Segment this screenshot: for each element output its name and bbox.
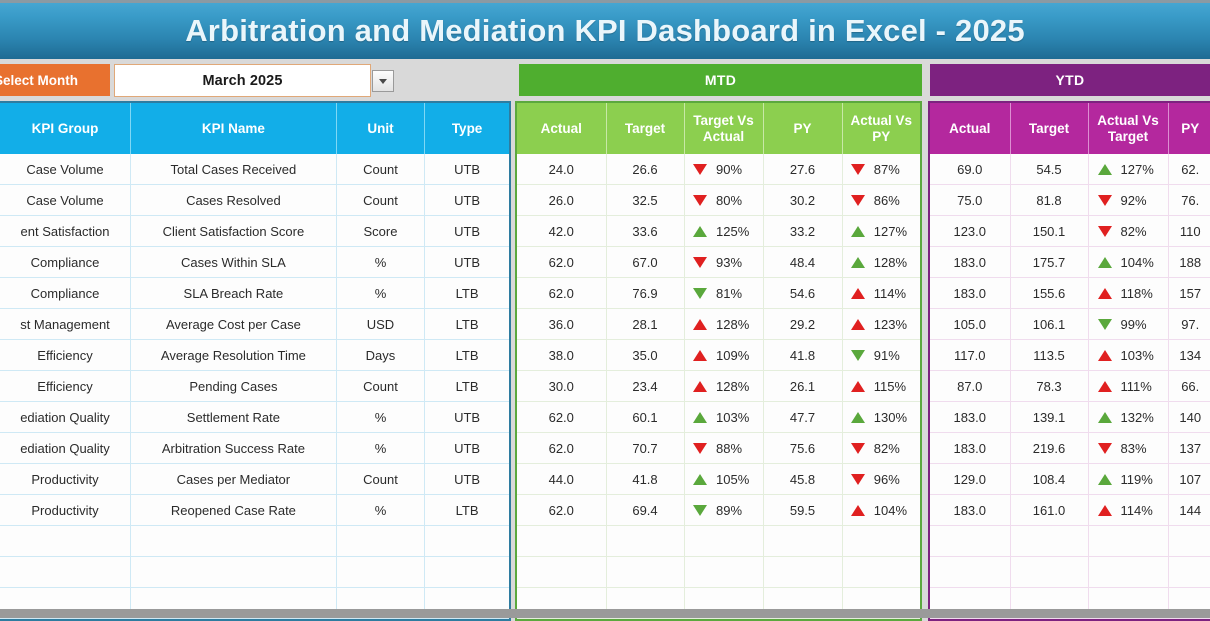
variance-percent: 83% (1121, 441, 1159, 456)
cell-mtd-target-vs-actual: 105% (684, 464, 763, 495)
cell-kpi-name: Reopened Case Rate (131, 495, 337, 526)
table-row: 30.023.4128%26.1115% (517, 371, 920, 402)
arrow-down-icon (1098, 195, 1112, 206)
cell-empty (930, 557, 1010, 588)
cell-ytd-py: 66. (1168, 371, 1210, 402)
cell-kpi-group: Case Volume (0, 154, 131, 185)
table-row: 129.0108.4119%107 (930, 464, 1210, 495)
cell-kpi-group: Compliance (0, 247, 131, 278)
cell-mtd-actual: 44.0 (517, 464, 606, 495)
cell-mtd-target-vs-actual: 89% (684, 495, 763, 526)
arrow-down-icon (851, 443, 865, 454)
cell-ytd-actual-vs-target: 103% (1088, 340, 1168, 371)
table-row: 105.0106.199%97. (930, 309, 1210, 340)
cell-ytd-py: 107 (1168, 464, 1210, 495)
cell-mtd-actual: 62.0 (517, 402, 606, 433)
cell-empty (684, 526, 763, 557)
cell-kpi-name: Cases Within SLA (131, 247, 337, 278)
cell-ytd-target: 81.8 (1010, 185, 1088, 216)
variance-percent: 127% (874, 224, 912, 239)
cell-mtd-actual: 62.0 (517, 278, 606, 309)
cell-mtd-actual: 42.0 (517, 216, 606, 247)
arrow-up-icon (1098, 505, 1112, 516)
arrow-down-icon (1098, 319, 1112, 330)
cell-ytd-actual: 183.0 (930, 278, 1010, 309)
kpi-table-mtd-group: ActualTargetTarget Vs ActualPYActual Vs … (515, 101, 922, 621)
column-header-actual[interactable]: Actual (930, 103, 1010, 154)
chevron-down-icon (379, 79, 387, 84)
cell-mtd-actual: 62.0 (517, 247, 606, 278)
window-bottom-bar (0, 609, 1210, 618)
cell-kpi-group: Productivity (0, 464, 131, 495)
cell-empty (1088, 526, 1168, 557)
cell-mtd-target: 67.0 (606, 247, 684, 278)
cell-unit: Days (336, 340, 424, 371)
variance-percent: 128% (716, 379, 754, 394)
kpi-table-ytd-group: ActualTargetActual Vs TargetPY 69.054.51… (928, 101, 1210, 621)
cell-type: UTB (425, 154, 509, 185)
cell-mtd-py: 75.6 (763, 433, 842, 464)
cell-mtd-target: 76.9 (606, 278, 684, 309)
arrow-down-icon (1098, 443, 1112, 454)
cell-mtd-actual-vs-py: 130% (842, 402, 920, 433)
dashboard-title-banner: Arbitration and Mediation KPI Dashboard … (0, 0, 1210, 59)
cell-type: UTB (425, 464, 509, 495)
cell-ytd-target: 175.7 (1010, 247, 1088, 278)
cell-ytd-actual: 183.0 (930, 433, 1010, 464)
cell-empty (606, 526, 684, 557)
table-row: 44.041.8105%45.896% (517, 464, 920, 495)
cell-mtd-py: 45.8 (763, 464, 842, 495)
arrow-up-icon (851, 226, 865, 237)
cell-mtd-py: 26.1 (763, 371, 842, 402)
arrow-up-icon (851, 257, 865, 268)
cell-ytd-py: 62. (1168, 154, 1210, 185)
variance-percent: 90% (716, 162, 754, 177)
cell-ytd-py: 134 (1168, 340, 1210, 371)
section-band-mtd: MTD (519, 64, 922, 96)
arrow-up-icon (851, 319, 865, 330)
cell-type: LTB (425, 309, 509, 340)
cell-ytd-target: 113.5 (1010, 340, 1088, 371)
table-row: 183.0155.6118%157 (930, 278, 1210, 309)
arrow-up-icon (693, 350, 707, 361)
cell-ytd-actual: 183.0 (930, 495, 1010, 526)
table-row: st ManagementAverage Cost per CaseUSDLTB (0, 309, 509, 340)
variance-percent: 93% (716, 255, 754, 270)
cell-mtd-py: 54.6 (763, 278, 842, 309)
column-header-unit[interactable]: Unit (336, 103, 424, 154)
arrow-down-icon (851, 164, 865, 175)
cell-empty (606, 557, 684, 588)
variance-percent: 87% (874, 162, 912, 177)
column-header-actual-vs-py[interactable]: Actual Vs PY (842, 103, 920, 154)
table-row: 183.0175.7104%188 (930, 247, 1210, 278)
table-row-empty (517, 526, 920, 557)
cell-ytd-actual-vs-target: 119% (1088, 464, 1168, 495)
cell-mtd-target: 60.1 (606, 402, 684, 433)
cell-mtd-actual: 62.0 (517, 495, 606, 526)
table-row: 62.060.1103%47.7130% (517, 402, 920, 433)
arrow-up-icon (851, 288, 865, 299)
table-row: ediation QualitySettlement Rate%UTB (0, 402, 509, 433)
cell-unit: % (336, 402, 424, 433)
cell-ytd-py: 137 (1168, 433, 1210, 464)
cell-mtd-actual-vs-py: 115% (842, 371, 920, 402)
cell-ytd-target: 54.5 (1010, 154, 1088, 185)
cell-unit: USD (336, 309, 424, 340)
cell-ytd-actual-vs-target: 92% (1088, 185, 1168, 216)
cell-ytd-actual-vs-target: 83% (1088, 433, 1168, 464)
cell-mtd-actual: 30.0 (517, 371, 606, 402)
cell-empty (0, 557, 131, 588)
cell-mtd-py: 59.5 (763, 495, 842, 526)
table-row-empty (517, 557, 920, 588)
arrow-up-icon (1098, 381, 1112, 392)
column-header-target[interactable]: Target (606, 103, 684, 154)
variance-percent: 132% (1121, 410, 1159, 425)
cell-empty (425, 526, 509, 557)
table-row-empty (930, 526, 1210, 557)
variance-percent: 104% (874, 503, 912, 518)
variance-percent: 91% (874, 348, 912, 363)
cell-kpi-name: Total Cases Received (131, 154, 337, 185)
cell-empty (1088, 557, 1168, 588)
cell-ytd-actual: 117.0 (930, 340, 1010, 371)
cell-ytd-py: 157 (1168, 278, 1210, 309)
arrow-up-icon (693, 226, 707, 237)
cell-kpi-name: Cases per Mediator (131, 464, 337, 495)
variance-percent: 105% (716, 472, 754, 487)
cell-mtd-py: 47.7 (763, 402, 842, 433)
table-row: 36.028.1128%29.2123% (517, 309, 920, 340)
cell-kpi-name: Average Resolution Time (131, 340, 337, 371)
arrow-up-icon (693, 412, 707, 423)
cell-ytd-actual: 69.0 (930, 154, 1010, 185)
cell-ytd-actual: 129.0 (930, 464, 1010, 495)
cell-empty (763, 557, 842, 588)
cell-type: UTB (425, 433, 509, 464)
cell-empty (336, 557, 424, 588)
table-row: 183.0161.0114%144 (930, 495, 1210, 526)
cell-type: UTB (425, 402, 509, 433)
arrow-up-icon (1098, 257, 1112, 268)
cell-ytd-target: 106.1 (1010, 309, 1088, 340)
arrow-down-icon (693, 164, 707, 175)
variance-percent: 80% (716, 193, 754, 208)
month-select-box[interactable]: March 2025 (114, 64, 371, 97)
table-row: Case VolumeTotal Cases ReceivedCountUTB (0, 154, 509, 185)
variance-percent: 127% (1121, 162, 1159, 177)
page-title: Arbitration and Mediation KPI Dashboard … (185, 13, 1025, 49)
cell-ytd-actual: 123.0 (930, 216, 1010, 247)
cell-mtd-target: 28.1 (606, 309, 684, 340)
cell-mtd-actual-vs-py: 87% (842, 154, 920, 185)
cell-mtd-py: 29.2 (763, 309, 842, 340)
cell-mtd-actual-vs-py: 114% (842, 278, 920, 309)
cell-ytd-py: 97. (1168, 309, 1210, 340)
cell-kpi-name: Average Cost per Case (131, 309, 337, 340)
table-row: 24.026.690%27.687% (517, 154, 920, 185)
table-row: ComplianceSLA Breach Rate%LTB (0, 278, 509, 309)
column-header-actual-vs-target[interactable]: Actual Vs Target (1088, 103, 1168, 154)
cell-mtd-actual-vs-py: 91% (842, 340, 920, 371)
variance-percent: 123% (874, 317, 912, 332)
arrow-up-icon (693, 381, 707, 392)
table-row: 26.032.580%30.286% (517, 185, 920, 216)
cell-ytd-target: 139.1 (1010, 402, 1088, 433)
variance-percent: 118% (1121, 286, 1159, 301)
table-row: ent SatisfactionClient Satisfaction Scor… (0, 216, 509, 247)
cell-empty (131, 526, 337, 557)
variance-percent: 103% (716, 410, 754, 425)
variance-percent: 82% (874, 441, 912, 456)
month-select-value: March 2025 (203, 73, 283, 89)
select-month-label: Select Month (0, 64, 110, 96)
cell-mtd-target-vs-actual: 90% (684, 154, 763, 185)
arrow-down-icon (693, 195, 707, 206)
cell-type: LTB (425, 495, 509, 526)
cell-mtd-actual: 24.0 (517, 154, 606, 185)
cell-kpi-group: ediation Quality (0, 433, 131, 464)
variance-percent: 88% (716, 441, 754, 456)
section-band-mtd-label: MTD (705, 72, 736, 88)
cell-mtd-target: 32.5 (606, 185, 684, 216)
arrow-up-icon (693, 319, 707, 330)
cell-ytd-actual: 183.0 (930, 247, 1010, 278)
column-header-kpi-group[interactable]: KPI Group (0, 103, 131, 154)
cell-mtd-target: 26.6 (606, 154, 684, 185)
cell-ytd-actual: 105.0 (930, 309, 1010, 340)
cell-mtd-py: 41.8 (763, 340, 842, 371)
cell-empty (1010, 557, 1088, 588)
cell-empty (336, 526, 424, 557)
column-header-type[interactable]: Type (425, 103, 509, 154)
cell-mtd-target: 70.7 (606, 433, 684, 464)
cell-mtd-actual-vs-py: 128% (842, 247, 920, 278)
cell-kpi-group: st Management (0, 309, 131, 340)
cell-ytd-actual-vs-target: 114% (1088, 495, 1168, 526)
cell-mtd-actual-vs-py: 96% (842, 464, 920, 495)
dashboard-root: Arbitration and Mediation KPI Dashboard … (0, 0, 1210, 618)
column-header-target[interactable]: Target (1010, 103, 1088, 154)
variance-percent: 96% (874, 472, 912, 487)
cell-mtd-py: 27.6 (763, 154, 842, 185)
variance-percent: 128% (874, 255, 912, 270)
cell-unit: % (336, 247, 424, 278)
cell-ytd-actual-vs-target: 118% (1088, 278, 1168, 309)
cell-kpi-group: Productivity (0, 495, 131, 526)
table-row: 183.0219.683%137 (930, 433, 1210, 464)
cell-ytd-target: 219.6 (1010, 433, 1088, 464)
cell-kpi-name: Cases Resolved (131, 185, 337, 216)
table-row: 62.076.981%54.6114% (517, 278, 920, 309)
table-row: ediation QualityArbitration Success Rate… (0, 433, 509, 464)
table-row-empty (0, 557, 509, 588)
variance-percent: 128% (716, 317, 754, 332)
arrow-down-icon (693, 288, 707, 299)
table-row: 42.033.6125%33.2127% (517, 216, 920, 247)
cell-ytd-actual: 75.0 (930, 185, 1010, 216)
section-band-ytd-label: YTD (1056, 72, 1085, 88)
cell-ytd-actual-vs-target: 99% (1088, 309, 1168, 340)
cell-mtd-target: 33.6 (606, 216, 684, 247)
variance-percent: 99% (1121, 317, 1159, 332)
cell-empty (517, 526, 606, 557)
cell-kpi-name: Settlement Rate (131, 402, 337, 433)
cell-mtd-actual-vs-py: 82% (842, 433, 920, 464)
cell-mtd-target-vs-actual: 81% (684, 278, 763, 309)
column-header-py[interactable]: PY (763, 103, 842, 154)
cell-mtd-target-vs-actual: 103% (684, 402, 763, 433)
table-row: 62.069.489%59.5104% (517, 495, 920, 526)
cell-mtd-actual-vs-py: 86% (842, 185, 920, 216)
cell-mtd-target-vs-actual: 88% (684, 433, 763, 464)
table-row: ProductivityReopened Case Rate%LTB (0, 495, 509, 526)
variance-percent: 125% (716, 224, 754, 239)
variance-percent: 86% (874, 193, 912, 208)
kpi-table: KPI GroupKPI NameUnitType Case VolumeTot… (0, 101, 1210, 606)
table-row: EfficiencyAverage Resolution TimeDaysLTB (0, 340, 509, 371)
cell-type: LTB (425, 278, 509, 309)
cell-ytd-target: 155.6 (1010, 278, 1088, 309)
cell-mtd-py: 48.4 (763, 247, 842, 278)
variance-percent: 119% (1121, 472, 1159, 487)
table-header-row-left: KPI GroupKPI NameUnitType (0, 103, 509, 154)
cell-empty (684, 557, 763, 588)
cell-ytd-actual-vs-target: 127% (1088, 154, 1168, 185)
table-row: EfficiencyPending CasesCountLTB (0, 371, 509, 402)
table-row: ComplianceCases Within SLA%UTB (0, 247, 509, 278)
cell-mtd-actual-vs-py: 104% (842, 495, 920, 526)
cell-mtd-target: 23.4 (606, 371, 684, 402)
arrow-up-icon (1098, 412, 1112, 423)
arrow-down-icon (693, 443, 707, 454)
column-header-actual[interactable]: Actual (517, 103, 606, 154)
cell-unit: % (336, 278, 424, 309)
arrow-down-icon (693, 257, 707, 268)
cell-mtd-py: 33.2 (763, 216, 842, 247)
arrow-up-icon (1098, 164, 1112, 175)
month-dropdown-button[interactable] (372, 70, 394, 92)
arrow-up-icon (851, 505, 865, 516)
table-header-row-ytd: ActualTargetActual Vs TargetPY (930, 103, 1210, 154)
cell-unit: Score (336, 216, 424, 247)
select-month-label-text: Select Month (0, 73, 78, 88)
cell-mtd-target: 69.4 (606, 495, 684, 526)
table-row: 87.078.3111%66. (930, 371, 1210, 402)
cell-unit: % (336, 495, 424, 526)
cell-empty (425, 557, 509, 588)
cell-kpi-group: ent Satisfaction (0, 216, 131, 247)
cell-empty (1168, 526, 1210, 557)
cell-kpi-group: ediation Quality (0, 402, 131, 433)
column-header-kpi-name[interactable]: KPI Name (131, 103, 337, 154)
variance-percent: 109% (716, 348, 754, 363)
column-header-target-vs-actual[interactable]: Target Vs Actual (684, 103, 763, 154)
arrow-down-icon (693, 505, 707, 516)
cell-ytd-target: 78.3 (1010, 371, 1088, 402)
cell-mtd-target-vs-actual: 128% (684, 309, 763, 340)
cell-ytd-target: 150.1 (1010, 216, 1088, 247)
cell-empty (0, 526, 131, 557)
cell-ytd-actual-vs-target: 132% (1088, 402, 1168, 433)
cell-type: UTB (425, 185, 509, 216)
table-row-empty (0, 526, 509, 557)
arrow-up-icon (1098, 288, 1112, 299)
cell-kpi-name: Arbitration Success Rate (131, 433, 337, 464)
cell-empty (517, 557, 606, 588)
variance-percent: 111% (1121, 379, 1159, 394)
table-row: 62.067.093%48.4128% (517, 247, 920, 278)
cell-mtd-actual-vs-py: 123% (842, 309, 920, 340)
cell-empty (842, 557, 920, 588)
variance-percent: 92% (1121, 193, 1159, 208)
variance-percent: 89% (716, 503, 754, 518)
cell-mtd-target-vs-actual: 109% (684, 340, 763, 371)
cell-kpi-name: Pending Cases (131, 371, 337, 402)
arrow-up-icon (851, 412, 865, 423)
arrow-up-icon (693, 474, 707, 485)
cell-unit: Count (336, 371, 424, 402)
table-row: 117.0113.5103%134 (930, 340, 1210, 371)
variance-percent: 103% (1121, 348, 1159, 363)
cell-empty (1010, 526, 1088, 557)
cell-type: UTB (425, 216, 509, 247)
cell-ytd-py: 144 (1168, 495, 1210, 526)
cell-empty (763, 526, 842, 557)
cell-ytd-actual-vs-target: 82% (1088, 216, 1168, 247)
cell-ytd-target: 161.0 (1010, 495, 1088, 526)
variance-percent: 104% (1121, 255, 1159, 270)
variance-percent: 114% (1121, 503, 1159, 518)
cell-mtd-actual-vs-py: 127% (842, 216, 920, 247)
cell-kpi-name: Client Satisfaction Score (131, 216, 337, 247)
cell-ytd-target: 108.4 (1010, 464, 1088, 495)
cell-kpi-group: Compliance (0, 278, 131, 309)
cell-ytd-py: 76. (1168, 185, 1210, 216)
arrow-up-icon (851, 381, 865, 392)
kpi-table-left-group: KPI GroupKPI NameUnitType Case VolumeTot… (0, 101, 511, 621)
cell-mtd-py: 30.2 (763, 185, 842, 216)
cell-mtd-target: 41.8 (606, 464, 684, 495)
cell-kpi-group: Efficiency (0, 340, 131, 371)
column-header-py[interactable]: PY (1168, 103, 1210, 154)
arrow-up-icon (1098, 474, 1112, 485)
cell-ytd-actual: 183.0 (930, 402, 1010, 433)
variance-percent: 114% (874, 286, 912, 301)
cell-ytd-actual-vs-target: 111% (1088, 371, 1168, 402)
arrow-down-icon (851, 474, 865, 485)
cell-mtd-target-vs-actual: 128% (684, 371, 763, 402)
cell-unit: % (336, 433, 424, 464)
table-header-row-mtd: ActualTargetTarget Vs ActualPYActual Vs … (517, 103, 920, 154)
table-row-empty (930, 557, 1210, 588)
section-band-ytd: YTD (930, 64, 1210, 96)
cell-kpi-name: SLA Breach Rate (131, 278, 337, 309)
variance-percent: 81% (716, 286, 754, 301)
variance-percent: 82% (1121, 224, 1159, 239)
arrow-up-icon (1098, 350, 1112, 361)
cell-empty (131, 557, 337, 588)
cell-mtd-actual: 62.0 (517, 433, 606, 464)
table-row: Case VolumeCases ResolvedCountUTB (0, 185, 509, 216)
arrow-down-icon (851, 195, 865, 206)
cell-ytd-actual: 87.0 (930, 371, 1010, 402)
cell-mtd-target-vs-actual: 93% (684, 247, 763, 278)
cell-mtd-target-vs-actual: 125% (684, 216, 763, 247)
cell-unit: Count (336, 464, 424, 495)
